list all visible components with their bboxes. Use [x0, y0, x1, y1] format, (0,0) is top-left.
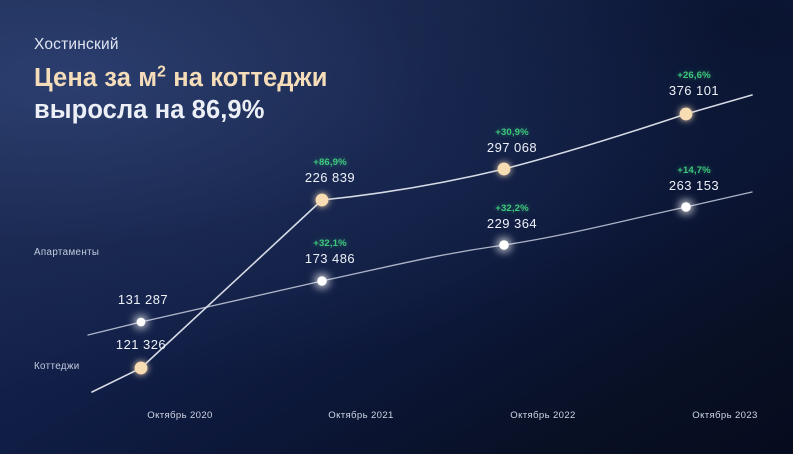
- series-label-cottages: Коттеджи: [34, 361, 80, 372]
- x-axis-tick-3: Октябрь 2023: [692, 410, 757, 421]
- point-apartments-2023[interactable]: [681, 202, 691, 212]
- point-cottages-2022[interactable]: [498, 163, 511, 176]
- series-label-apartments: Апартаменты: [34, 247, 99, 258]
- vertical-gridlines: [142, 114, 687, 400]
- series-line-apartments: [88, 192, 752, 335]
- apartment-data-points: [137, 202, 691, 326]
- x-axis-tick-1: Октябрь 2021: [328, 410, 393, 421]
- point-apartments-2021[interactable]: [317, 276, 327, 286]
- point-cottages-2020[interactable]: [135, 362, 148, 375]
- chart-canvas: Хостинский Цена за м2 на коттеджи выросл…: [0, 0, 793, 454]
- point-cottages-2021[interactable]: [316, 194, 329, 207]
- x-axis-tick-2: Октябрь 2022: [510, 410, 575, 421]
- series-line-cottages: [92, 95, 752, 392]
- x-axis-tick-0: Октябрь 2020: [147, 410, 212, 421]
- cottage-data-points: [135, 108, 693, 375]
- point-cottages-2023[interactable]: [680, 108, 693, 121]
- point-apartments-2022[interactable]: [499, 240, 509, 250]
- point-apartments-2020[interactable]: [137, 318, 146, 327]
- plot-area: [0, 0, 793, 454]
